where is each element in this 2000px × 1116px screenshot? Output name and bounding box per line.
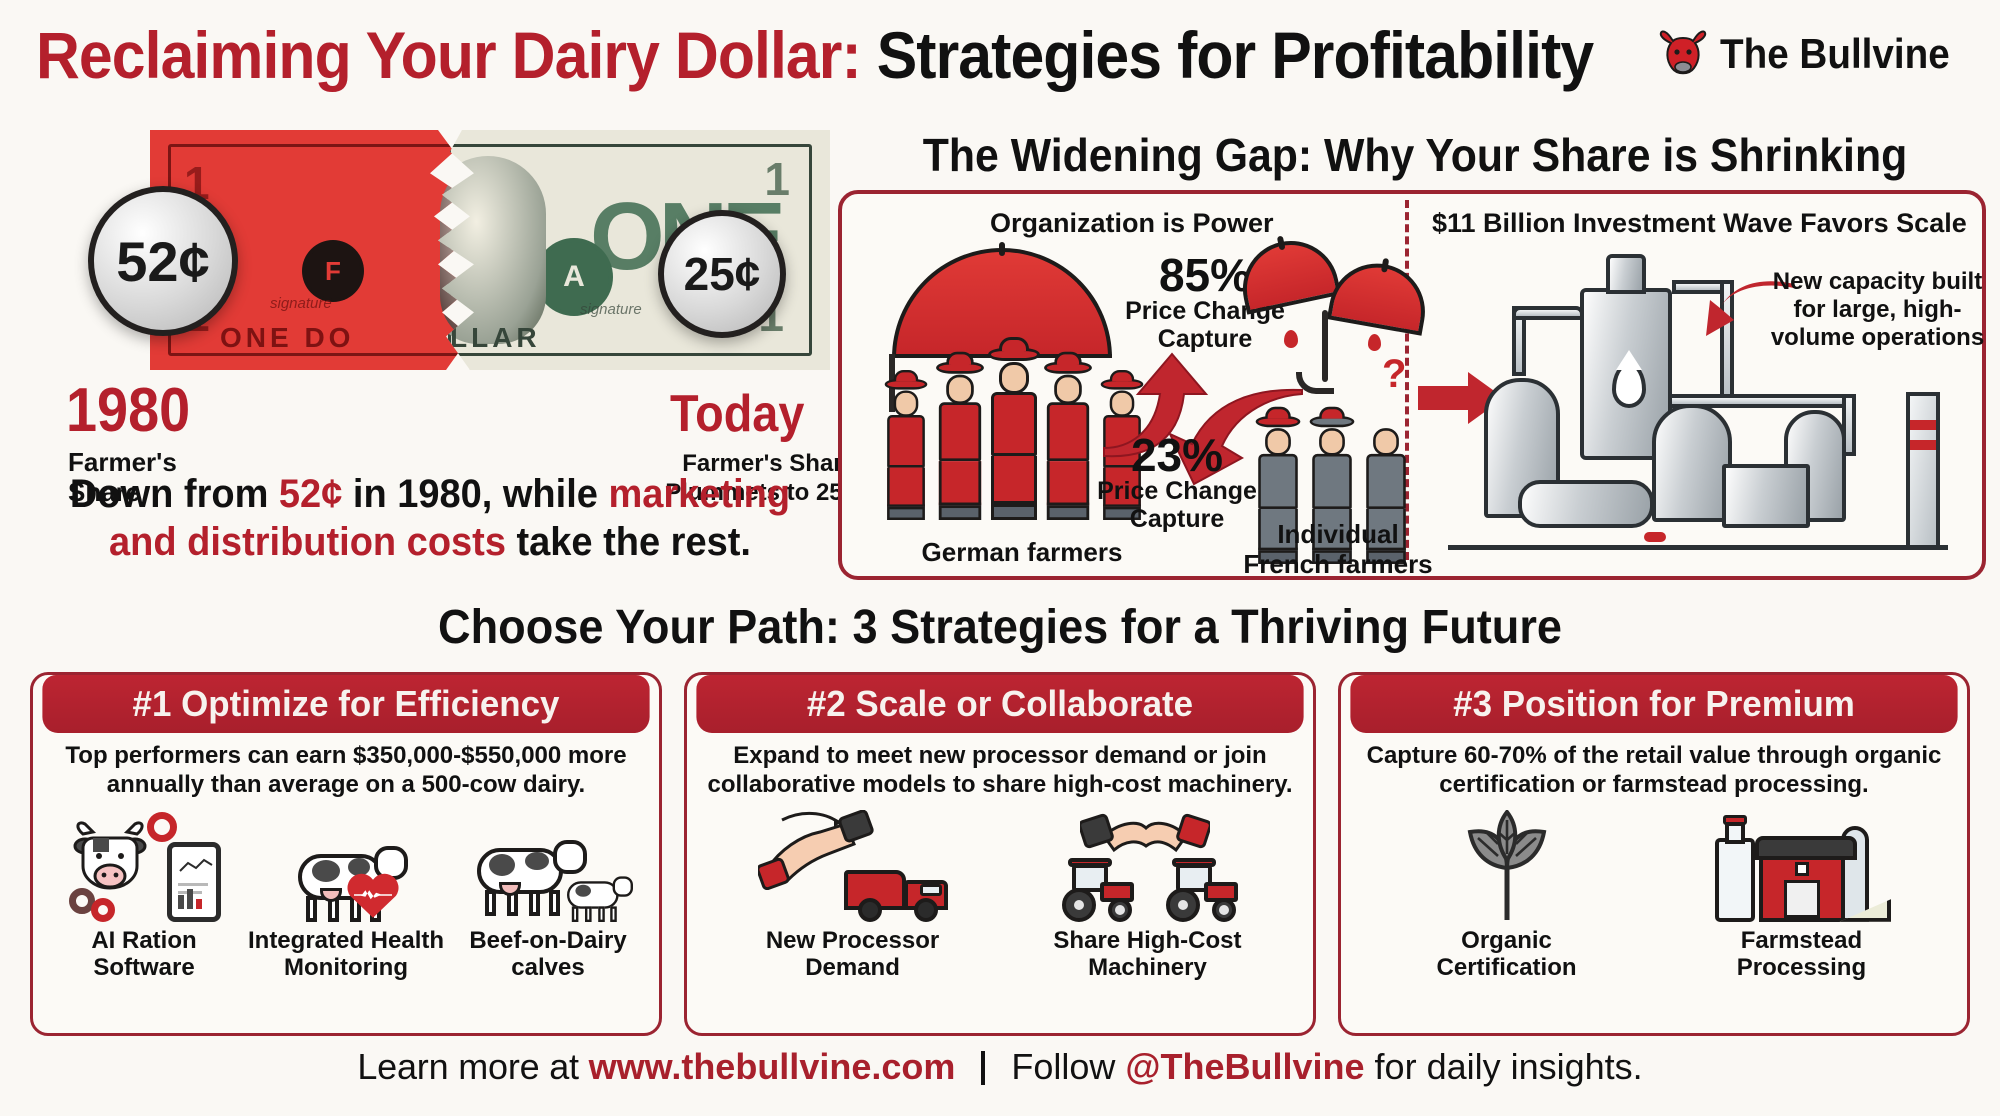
barn-milk-cheese-icon xyxy=(1662,804,1941,922)
factory-building xyxy=(1722,464,1810,528)
rain-drop-icon xyxy=(1368,334,1381,351)
factory-valve xyxy=(1644,532,1666,542)
stat-23-label: Price ChangeCapture xyxy=(1062,478,1292,533)
card-1-item-1[interactable]: AI RationSoftware xyxy=(44,804,244,982)
year-1980-label: 1980 xyxy=(66,380,190,442)
factory-smokestack xyxy=(1906,392,1940,550)
card-2-subtitle: Expand to meet new processor demand or j… xyxy=(687,733,1313,800)
bill-signature: signature xyxy=(580,301,642,318)
dollar-comparison: 1 1 F ONE DO signature 1 1 ONE A LLAR si… xyxy=(30,110,830,460)
stat-23-percent: 23% Price ChangeCapture xyxy=(1062,432,1292,533)
stat-23-value: 23% xyxy=(1062,432,1292,478)
factory-tank xyxy=(1652,404,1732,522)
calf-icon xyxy=(565,876,627,922)
coin-25-cents: 25¢ xyxy=(658,210,786,338)
card-1-item-1-label: AI RationSoftware xyxy=(44,928,244,982)
card-3-item-2-label: FarmsteadProcessing xyxy=(1662,928,1941,982)
footer-handle[interactable]: @TheBullvine xyxy=(1125,1046,1364,1087)
barn-icon xyxy=(1759,854,1845,922)
title-red-part: Reclaiming Your Dairy Dollar: xyxy=(36,18,861,92)
leaf-plant-icon-art xyxy=(1448,810,1566,922)
bill-signature: signature xyxy=(270,295,332,312)
bill-seal-f: F xyxy=(302,240,364,302)
card-2-header: #2 Scale or Collaborate xyxy=(696,675,1303,733)
card-2-icons: New ProcessorDemand xyxy=(687,812,1313,982)
factory-capacity-note: New capacity builtfor large, high-volume… xyxy=(1770,268,1985,351)
tractor-icon xyxy=(1060,864,1134,922)
german-farmers-label: German farmers xyxy=(872,538,1172,568)
cow-face-icon xyxy=(73,820,147,894)
coin-52-cents: 52¢ xyxy=(88,186,238,336)
bill-word-left: ONE DO xyxy=(220,322,354,354)
card-2-item-2[interactable]: Share High-CostMachinery xyxy=(1008,804,1287,982)
page-title: Reclaiming Your Dairy Dollar: Strategies… xyxy=(36,22,1593,88)
card-1-icons: AI RationSoftware xyxy=(33,812,659,982)
card-2-item-1-label: New ProcessorDemand xyxy=(713,928,992,982)
organization-heading: Organization is Power xyxy=(990,208,1274,239)
infographic-canvas: Reclaiming Your Dairy Dollar: Strategies… xyxy=(0,0,2000,1116)
handshake-tractors-icon xyxy=(1008,804,1287,922)
gap-section-title: The Widening Gap: Why Your Share is Shri… xyxy=(880,128,1950,182)
title-black-part: Strategies for Profitability xyxy=(861,18,1593,92)
footer-follow-prefix: Follow xyxy=(1011,1046,1125,1087)
footer-follow-suffix: for daily insights. xyxy=(1365,1046,1643,1087)
today-label: Today xyxy=(670,388,804,440)
cow-icon xyxy=(294,846,398,922)
card-2-item-2-label: Share High-CostMachinery xyxy=(1008,928,1287,982)
tablet-icon xyxy=(167,842,221,922)
card-1-item-2[interactable]: Integrated HealthMonitoring xyxy=(246,804,446,982)
bull-head-icon xyxy=(1656,28,1710,80)
card-3-item-2[interactable]: FarmsteadProcessing xyxy=(1662,804,1941,982)
rain-drop-icon xyxy=(1284,330,1298,348)
cow-icon xyxy=(473,840,577,916)
milk-drop-icon xyxy=(1612,362,1646,408)
farmer-figure xyxy=(988,348,1040,520)
strategy-card-2[interactable]: #2 Scale or Collaborate Expand to meet n… xyxy=(684,672,1316,1036)
footer-learn-prefix: Learn more at xyxy=(357,1046,588,1087)
dollar-caption: Down from 52¢ in 1980, while marketingan… xyxy=(50,470,810,566)
farmer-figure xyxy=(936,362,984,520)
gear-icon xyxy=(147,812,177,842)
card-1-item-2-label: Integrated HealthMonitoring xyxy=(246,928,446,982)
card-1-item-3[interactable]: Beef-on-Dairycalves xyxy=(448,804,648,982)
card-3-header: #3 Position for Premium xyxy=(1350,675,1957,733)
header: Reclaiming Your Dairy Dollar: Strategies… xyxy=(0,14,2000,100)
card-3-subtitle: Capture 60-70% of the retail value throu… xyxy=(1341,733,1967,800)
brand-logo-text: The Bullvine xyxy=(1720,30,1950,78)
footer: Learn more at www.thebullvine.comFollow … xyxy=(0,1046,2000,1088)
brand-logo[interactable]: The Bullvine xyxy=(1656,28,1970,80)
strategy-card-3[interactable]: #3 Position for Premium Capture 60-70% o… xyxy=(1338,672,1970,1036)
tractor-icon xyxy=(1164,864,1238,922)
card-3-item-1[interactable]: OrganicCertification xyxy=(1367,804,1646,982)
investment-heading: $11 Billion Investment Wave Favors Scale xyxy=(1432,208,1967,239)
factory-pipe xyxy=(1512,306,1584,320)
card-1-header: #1 Optimize for Efficiency xyxy=(42,675,649,733)
farmer-figure xyxy=(885,379,928,520)
footer-website[interactable]: www.thebullvine.com xyxy=(589,1046,956,1087)
cow-gears-tablet-icon xyxy=(44,804,244,922)
card-3-icons: OrganicCertification xyxy=(1341,812,1967,982)
question-mark-icon: ? xyxy=(1382,352,1406,397)
card-2-item-1[interactable]: New ProcessorDemand xyxy=(713,804,992,982)
strategy-card-1[interactable]: #1 Optimize for Efficiency Top performer… xyxy=(30,672,662,1036)
card-1-subtitle: Top performers can earn $350,000-$550,00… xyxy=(33,733,659,800)
ecg-line-icon xyxy=(354,890,392,900)
bill-word-right: LLAR xyxy=(450,322,541,354)
leaf-plant-icon xyxy=(1367,804,1646,922)
card-1-item-3-label: Beef-on-Dairycalves xyxy=(448,928,648,982)
cow-heart-ecg-icon xyxy=(246,804,446,922)
hand-truck-icon xyxy=(713,804,992,922)
gear-icon xyxy=(91,898,115,922)
footer-separator xyxy=(981,1051,985,1085)
strategy-cards: #1 Optimize for Efficiency Top performer… xyxy=(30,672,1970,1036)
factory-horizontal-tank xyxy=(1518,480,1654,528)
factory-chimney-small xyxy=(1606,254,1646,294)
milk-bottle-icon xyxy=(1715,838,1755,922)
card-3-item-1-label: OrganicCertification xyxy=(1367,928,1646,982)
strategies-heading: Choose Your Path: 3 Strategies for a Thr… xyxy=(60,600,1940,655)
factory-ground xyxy=(1448,545,1948,550)
truck-icon xyxy=(844,864,948,922)
cow-and-calf-icon xyxy=(448,804,648,922)
